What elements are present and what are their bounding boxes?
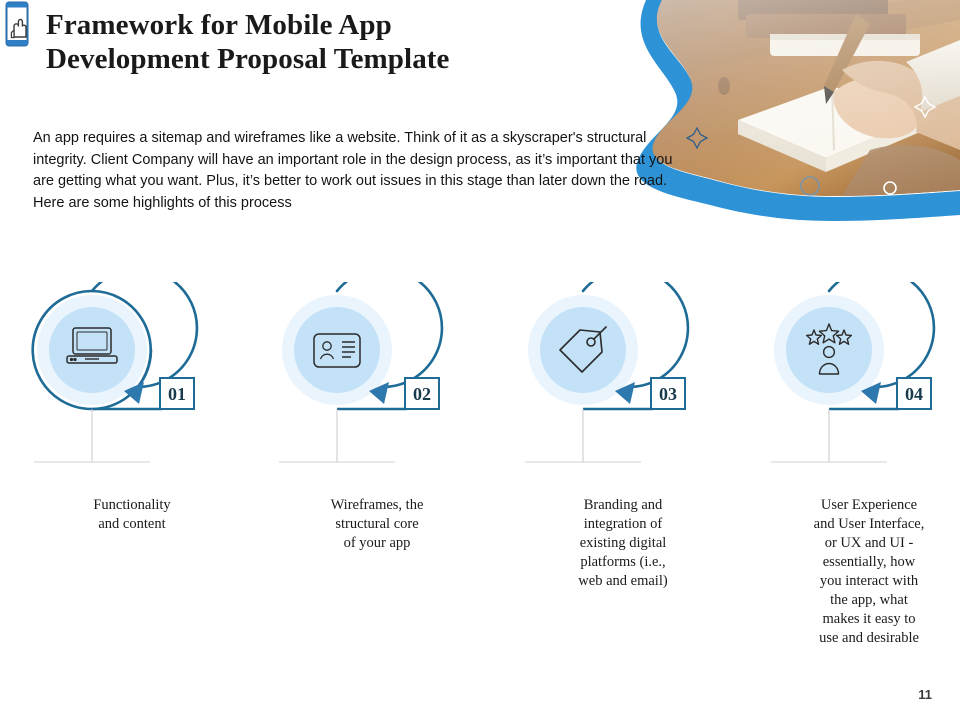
step-caption-03: Branding and integration of existing dig… [511,496,735,591]
step-item-04[interactable]: 04 User Experience and User Interface, o… [749,282,960,682]
steps-row: 01 Functionality and content [0,282,960,682]
page-title-line-1: Framework for Mobile App [46,8,646,42]
step-number-02: 02 [413,384,431,404]
step-art-02: 02 [257,282,497,482]
step-caption-01: Functionality and content [20,496,244,534]
step-art-04: 04 [749,282,960,482]
slide-root: Framework for Mobile App Development Pro… [0,0,960,720]
step-art-03: 03 [503,282,743,482]
step-caption-02: Wireframes, the structural core of your … [265,496,489,553]
step-item-02[interactable]: 02 Wireframes, the structural core of yo… [257,282,497,682]
mobile-tap-icon [2,1,32,47]
step-item-01[interactable]: 01 Functionality and content [12,282,252,682]
page-title: Framework for Mobile App Development Pro… [46,8,646,76]
step-caption-04: User Experience and User Interface, or U… [757,496,960,648]
body-paragraph: An app requires a sitemap and wireframes… [33,128,678,214]
step-number-01: 01 [168,384,186,404]
step-item-03[interactable]: 03 Branding and integration of existing … [503,282,743,682]
step-art-01: 01 [12,282,252,482]
step-number-03: 03 [659,384,677,404]
page-number: 11 [918,687,932,702]
page-title-line-2: Development Proposal Template [46,42,646,76]
step-number-04: 04 [905,384,923,404]
